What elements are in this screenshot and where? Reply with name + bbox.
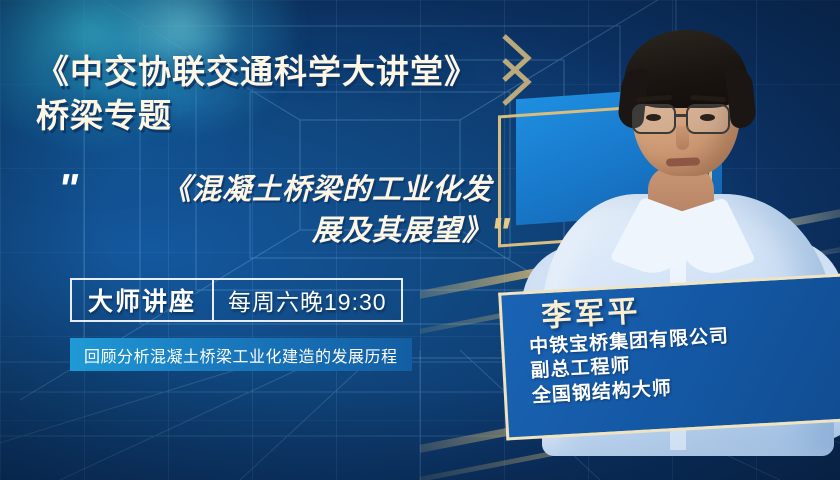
- series-title-line1: 《中交协联交通科学大讲堂》: [36, 50, 506, 94]
- photo-eye-right: [700, 114, 715, 121]
- topic-line1: 《混凝土桥梁的工业化发: [92, 170, 492, 211]
- photo-eye-left: [646, 114, 661, 121]
- topic-line2: 展及其展望》: [92, 211, 492, 252]
- quote-close-icon: ": [490, 218, 506, 247]
- description-bar: 回顾分析混凝土桥梁工业化建造的发展历程: [70, 338, 412, 371]
- page-title: 《中交协联交通科学大讲堂》 桥梁专题: [36, 50, 506, 137]
- schedule-text: 每周六晚19:30: [214, 280, 401, 320]
- badge-master-lecture: 大师讲座: [72, 280, 212, 320]
- promo-poster: 《中交协联交通科学大讲堂》 桥梁专题 " 《混凝土桥梁的工业化发 展及其展望》 …: [0, 0, 840, 480]
- topic-block: " 《混凝土桥梁的工业化发 展及其展望》 ": [58, 170, 528, 251]
- topic-title: 《混凝土桥梁的工业化发 展及其展望》: [92, 170, 492, 251]
- photo-glasses-bridge: [676, 114, 688, 117]
- quote-open-icon: ": [58, 174, 74, 203]
- photo-mouth: [666, 157, 700, 166]
- speaker-info-card: 李军平 中铁宝桥集团有限公司 副总工程师 全国钢结构大师: [498, 272, 840, 441]
- speaker-card-content: 李军平 中铁宝桥集团有限公司 副总工程师 全国钢结构大师: [527, 283, 840, 410]
- photo-nose: [676, 126, 689, 150]
- series-title-line2: 桥梁专题: [36, 94, 506, 138]
- lecture-info-bar: 大师讲座 每周六晚19:30: [70, 278, 403, 322]
